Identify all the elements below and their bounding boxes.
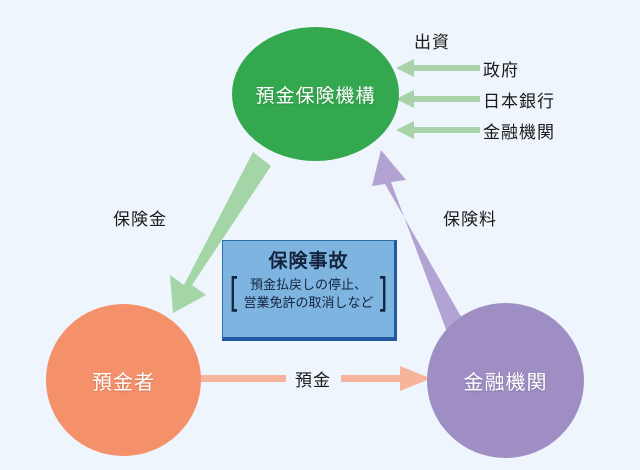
edge-label-deposit: 預金	[289, 366, 337, 391]
funding-source-government: 政府	[483, 56, 519, 81]
node-financial-institution[interactable]: 金融機関	[427, 303, 584, 458]
insured-event-detail-wrap: [ 預金払戻しの停止、 営業免許の取消しなど ]	[228, 276, 388, 311]
insured-event-detail-line-1: 預金払戻しの停止、	[243, 276, 373, 294]
edge-label-insurance-premium: 保険料	[443, 205, 497, 230]
edge-label-insurance-payment: 保険金	[113, 205, 167, 230]
insured-event-detail-line-2: 営業免許の取消しなど	[243, 294, 373, 312]
funding-source-bank-of-japan: 日本銀行	[483, 87, 555, 112]
insured-event-box: 保険事故 [ 預金払戻しの停止、 営業免許の取消しなど ]	[222, 240, 397, 341]
diagram-canvas: 預金保険機構 預金者 金融機関 保険金 保険料 預金 出資 政府 日本銀行 金融…	[0, 0, 640, 470]
funding-source-financial-institutions: 金融機関	[483, 118, 555, 143]
insured-event-detail: 預金払戻しの停止、 営業免許の取消しなど	[240, 276, 376, 311]
insured-event-title: 保険事故	[268, 246, 348, 273]
funding-arrow-1	[396, 90, 480, 108]
node-depositor-label: 預金者	[92, 366, 155, 395]
bracket-close: ]	[377, 266, 389, 320]
funding-arrow-0	[396, 59, 480, 77]
node-dic-label: 預金保険機構	[255, 81, 375, 108]
node-deposit-insurance-corporation[interactable]: 預金保険機構	[232, 27, 399, 161]
bracket-open: [	[228, 266, 240, 320]
funding-label: 出資	[414, 28, 450, 53]
node-bank-label: 金融機関	[464, 366, 548, 395]
funding-arrow-2	[396, 121, 480, 139]
node-depositor[interactable]: 預金者	[46, 304, 201, 456]
